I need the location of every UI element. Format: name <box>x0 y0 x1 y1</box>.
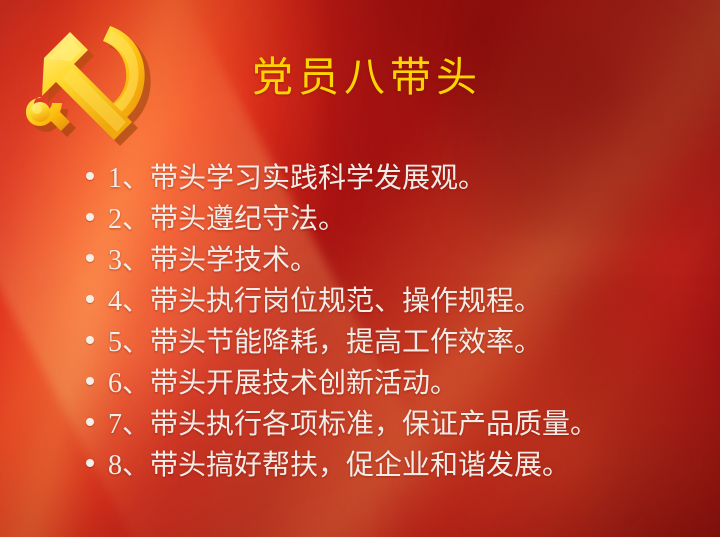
list-item-text: 4、带头执行岗位规范、操作规程。 <box>108 281 542 322</box>
list-item: 7、带头执行各项标准，保证产品质量。 <box>86 404 710 445</box>
list-item: 6、带头开展技术创新活动。 <box>86 363 710 404</box>
bullet-list: 1、带头学习实践科学发展观。 2、带头遵纪守法。 3、带头学技术。 4、带头执行… <box>86 158 710 486</box>
list-item-text: 1、带头学习实践科学发展观。 <box>108 158 486 199</box>
list-item-text: 5、带头节能降耗，提高工作效率。 <box>108 322 542 363</box>
bullet-dot-icon <box>86 418 94 426</box>
bullet-dot-icon <box>86 295 94 303</box>
list-item-text: 3、带头学技术。 <box>108 240 318 281</box>
list-item: 4、带头执行岗位规范、操作规程。 <box>86 281 710 322</box>
bullet-dot-icon <box>86 459 94 467</box>
list-item: 5、带头节能降耗，提高工作效率。 <box>86 322 710 363</box>
list-item: 2、带头遵纪守法。 <box>86 199 710 240</box>
list-item: 8、带头搞好帮扶，促企业和谐发展。 <box>86 445 710 486</box>
list-item-text: 6、带头开展技术创新活动。 <box>108 363 458 404</box>
presentation-slide: 党员八带头 1、带头学习实践科学发展观。 2、带头遵纪守法。 3、带头学技术。 … <box>0 0 720 537</box>
list-item-text: 2、带头遵纪守法。 <box>108 199 346 240</box>
list-item: 3、带头学技术。 <box>86 240 710 281</box>
list-item-text: 8、带头搞好帮扶，促企业和谐发展。 <box>108 445 570 486</box>
bullet-dot-icon <box>86 213 94 221</box>
list-item: 1、带头学习实践科学发展观。 <box>86 158 710 199</box>
list-item-text: 7、带头执行各项标准，保证产品质量。 <box>108 404 598 445</box>
bullet-dot-icon <box>86 377 94 385</box>
bullet-dot-icon <box>86 254 94 262</box>
bullet-dot-icon <box>86 172 94 180</box>
slide-title: 党员八带头 <box>0 54 720 101</box>
bullet-dot-icon <box>86 336 94 344</box>
